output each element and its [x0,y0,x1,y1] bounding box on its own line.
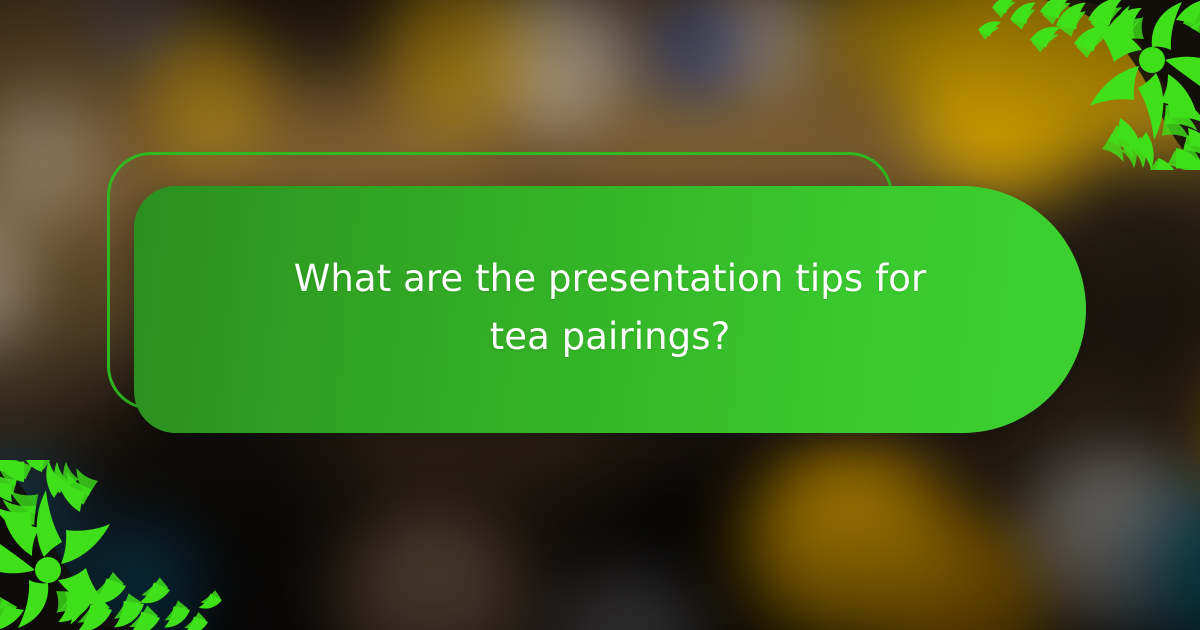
share-card-canvas: What are the presentation tips for tea p… [0,0,1200,630]
corner-ornament-bottom-left-icon [0,460,230,630]
hero-card: What are the presentation tips for tea p… [134,186,1086,433]
page-title: What are the presentation tips for tea p… [290,250,930,369]
corner-ornament-top-right-icon [970,0,1200,170]
